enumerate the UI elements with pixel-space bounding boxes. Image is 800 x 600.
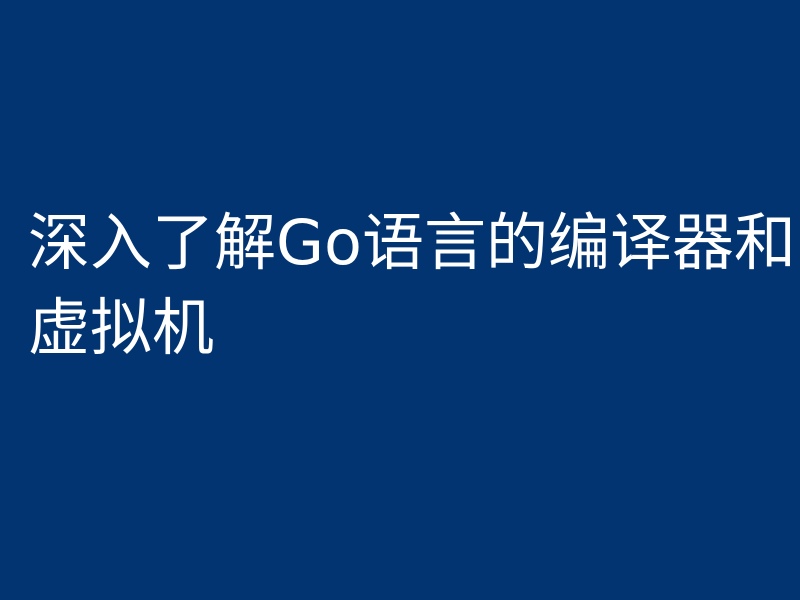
cover-slide: 深入了解Go语言的编译器和 虚拟机	[0, 0, 800, 600]
page-title-line-2: 虚拟机	[28, 285, 784, 370]
page-title: 深入了解Go语言的编译器和 虚拟机	[28, 200, 784, 370]
page-title-line-1: 深入了解Go语言的编译器和	[28, 200, 784, 285]
